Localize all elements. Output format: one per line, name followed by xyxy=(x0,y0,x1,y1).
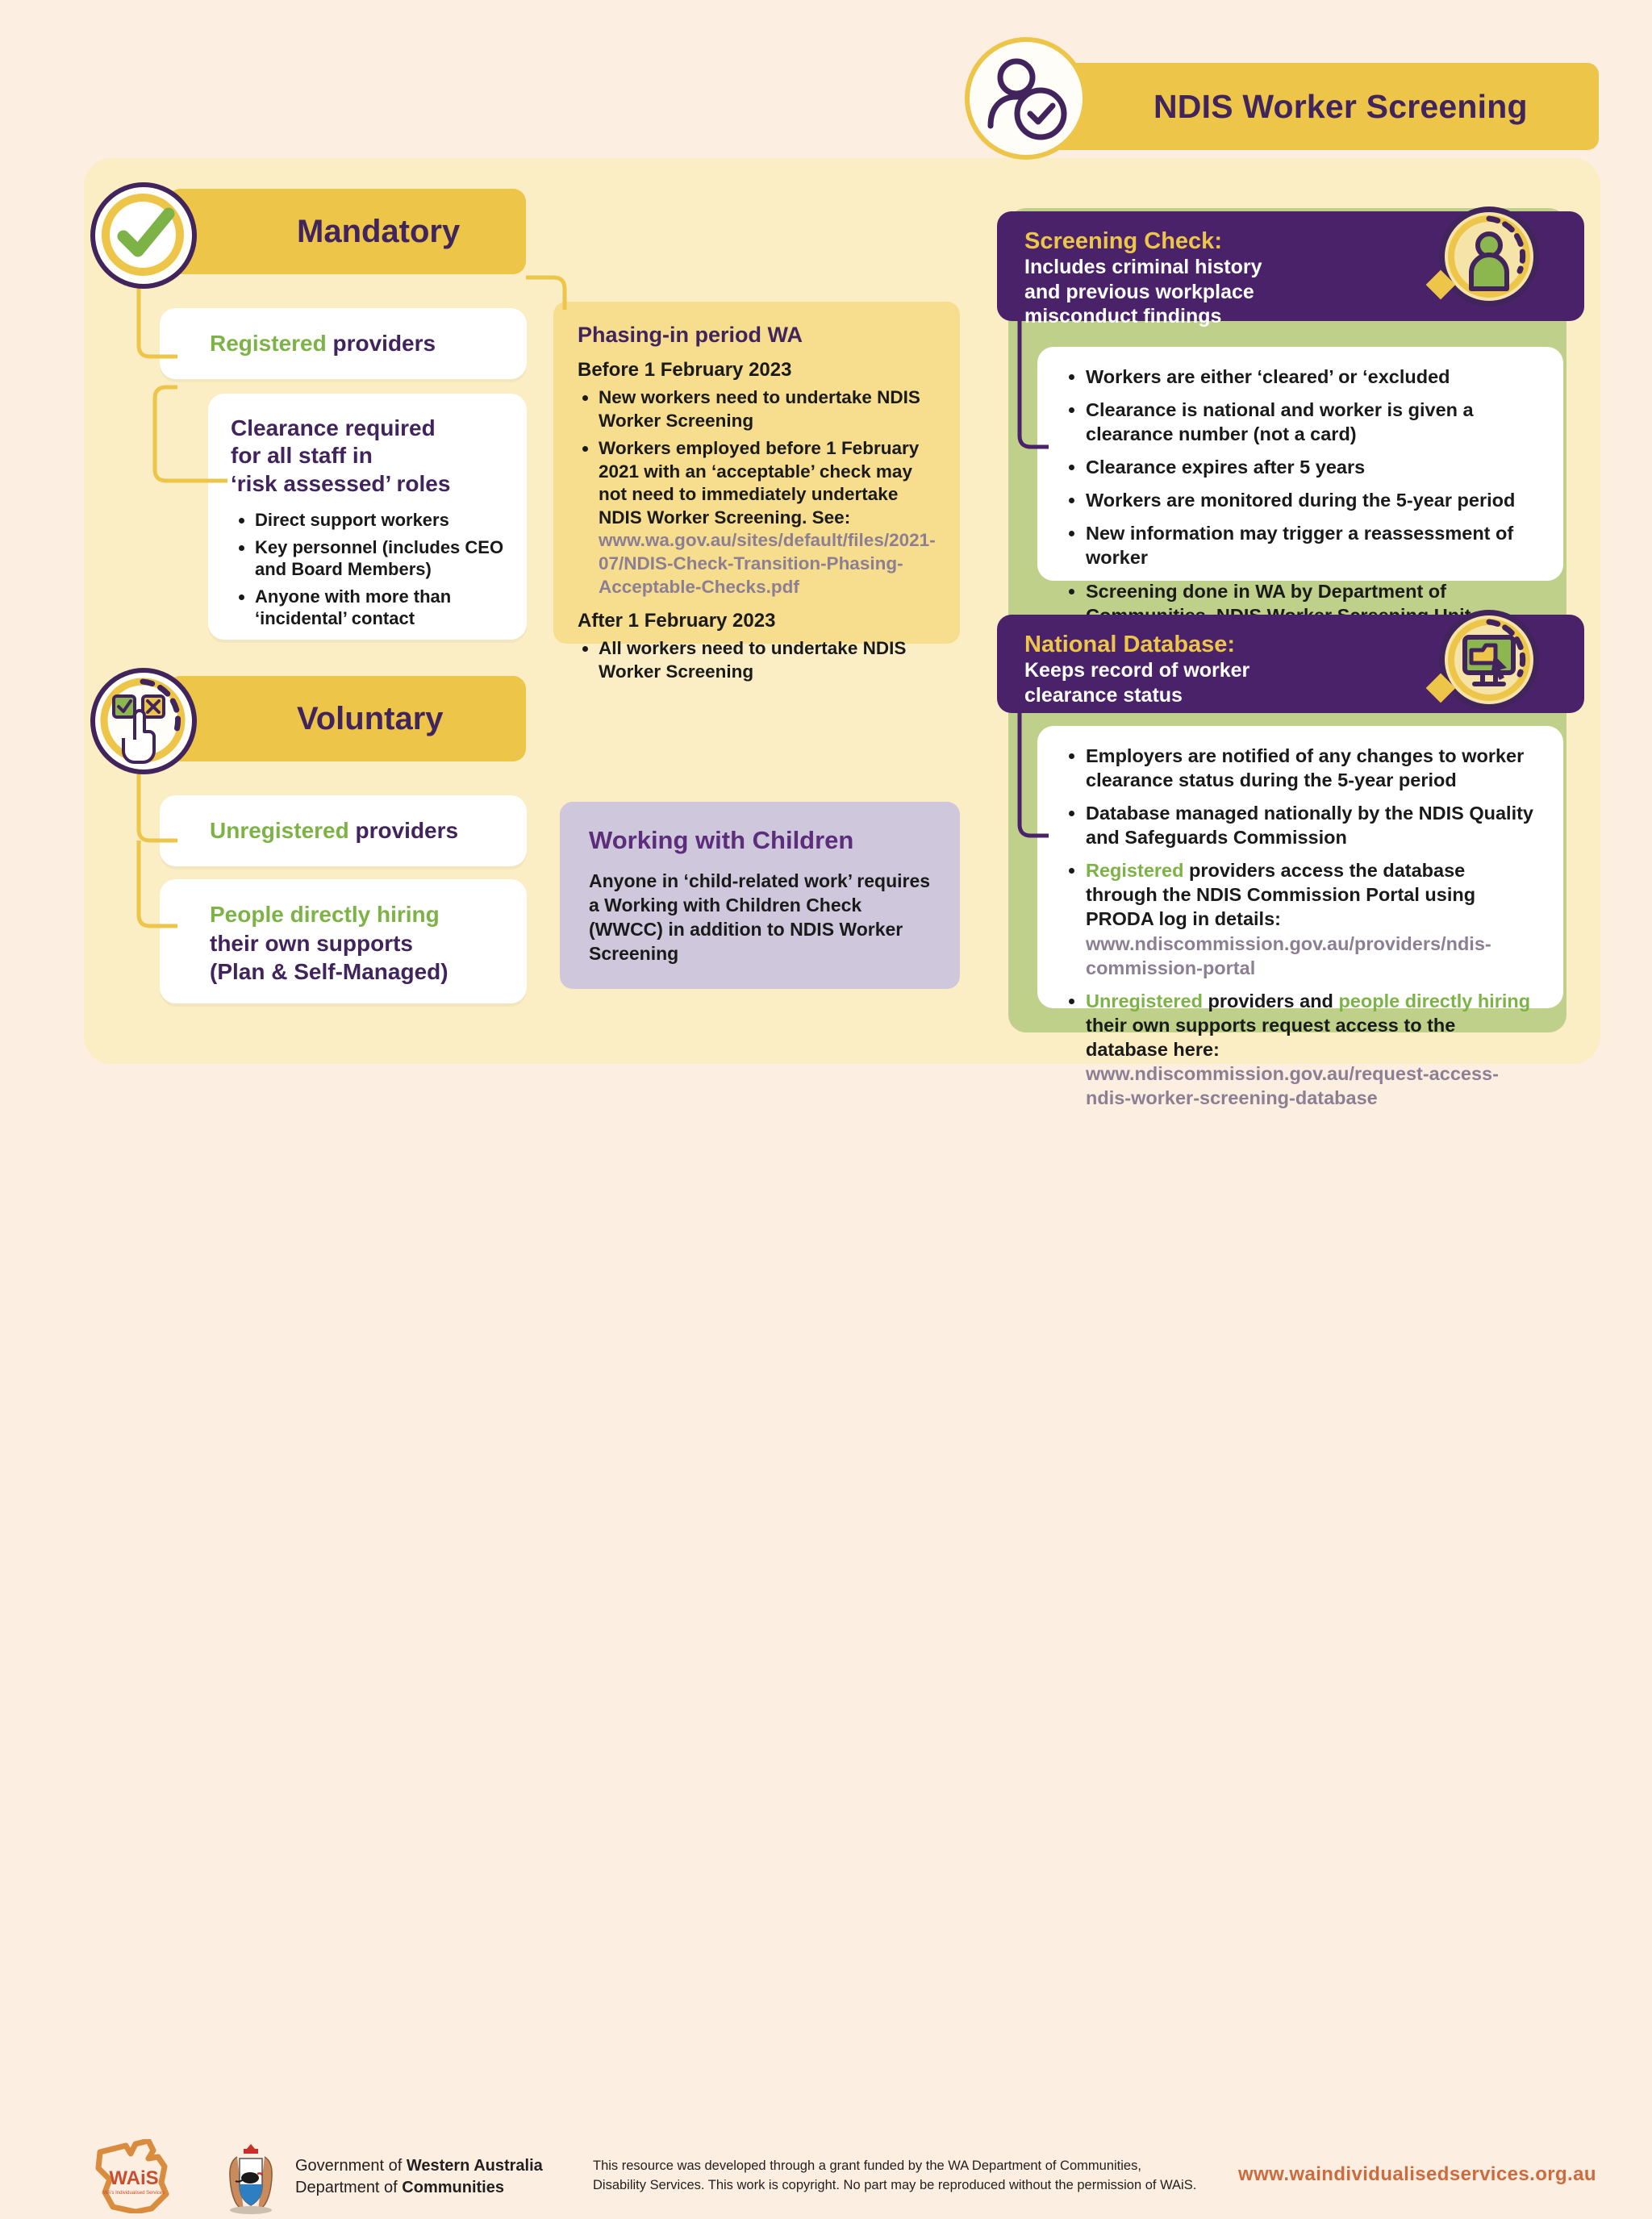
registered-highlight-db: Registered xyxy=(1086,860,1183,881)
list-item: Database managed nationally by the NDIS … xyxy=(1086,801,1539,849)
wwc-title: Working with Children xyxy=(589,826,936,855)
gov-line-2: Department of Communities xyxy=(295,2177,543,2199)
gov-line-1: Government of Western Australia xyxy=(295,2155,543,2177)
copyright-line-2: Disability Services. This work is copyri… xyxy=(593,2176,1196,2196)
phasing-bullet2-url[interactable]: www.wa.gov.au/sites/default/files/2021-0… xyxy=(599,530,936,596)
list-item: New workers need to undertake NDIS Worke… xyxy=(599,386,937,432)
mandatory-connectors xyxy=(81,242,581,694)
phasing-after-label: After 1 February 2023 xyxy=(578,610,937,632)
copyright-text: This resource was developed through a gr… xyxy=(593,2157,1196,2196)
page-title: NDIS Worker Screening xyxy=(1153,88,1528,126)
list-item: All workers need to undertake NDIS Worke… xyxy=(599,637,937,683)
wais-website-url[interactable]: www.waindividualisedservices.org.au xyxy=(1238,2163,1596,2186)
unregistered-highlight-db: Unregistered xyxy=(1086,991,1203,1011)
list-item: Clearance is national and worker is give… xyxy=(1086,398,1539,446)
phasing-bullet2-text: Workers employed before 1 February 2021 … xyxy=(599,438,919,528)
bullet4-text: their own supports request access to the… xyxy=(1086,1015,1455,1060)
phasing-before-list: New workers need to undertake NDIS Worke… xyxy=(599,386,937,599)
phasing-title: Phasing-in period WA xyxy=(578,323,937,348)
people-hiring-highlight-db: people directly hiring xyxy=(1338,991,1530,1011)
wa-government-crest-icon xyxy=(219,2138,282,2215)
national-database-bullets: Employers are notified of any changes to… xyxy=(1037,726,1563,1008)
database-bullet-list: Employers are notified of any changes to… xyxy=(1086,744,1539,1110)
checkbox-hand-pointer-icon xyxy=(90,668,197,774)
database-connector xyxy=(1008,707,1073,860)
list-item: Registered providers access the database… xyxy=(1086,858,1539,979)
list-item: Workers are monitored during the 5-year … xyxy=(1086,488,1539,512)
screening-check-bullets: Workers are either ‘cleared’ or ‘exclude… xyxy=(1037,347,1563,581)
phasing-in-period-box: Phasing-in period WA Before 1 February 2… xyxy=(553,302,960,644)
person-in-magnifier-icon xyxy=(1439,206,1539,307)
government-text: Government of Western Australia Departme… xyxy=(295,2155,543,2199)
list-item: Clearance expires after 5 years xyxy=(1086,455,1539,479)
list-item: Workers are either ‘cleared’ or ‘exclude… xyxy=(1086,365,1539,389)
bullet4-mid: providers and xyxy=(1203,991,1338,1011)
svg-text:WA's Individualised Services: WA's Individualised Services xyxy=(103,2191,165,2196)
working-with-children-box: Working with Children Anyone in ‘child-r… xyxy=(560,802,960,989)
wwc-body: Anyone in ‘child-related work’ requires … xyxy=(589,870,936,966)
header-bar: NDIS Worker Screening xyxy=(1018,63,1599,150)
computer-folder-cursor-icon xyxy=(1439,610,1539,710)
wais-logo: WAiS WA's Individualised Services xyxy=(89,2139,179,2212)
person-check-icon xyxy=(965,37,1087,160)
list-item: Employers are notified of any changes to… xyxy=(1086,744,1539,792)
commission-portal-url[interactable]: www.ndiscommission.gov.au/providers/ndis… xyxy=(1086,933,1491,978)
copyright-line-1: This resource was developed through a gr… xyxy=(593,2157,1196,2176)
green-tick-circle-icon xyxy=(90,182,197,289)
svg-text:WAiS: WAiS xyxy=(109,2167,158,2189)
footer: WAiS WA's Individualised Services Govern… xyxy=(0,1066,1652,1168)
phasing-before-label: Before 1 February 2023 xyxy=(578,359,937,382)
screening-connector xyxy=(1008,315,1073,476)
list-item: Workers employed before 1 February 2021 … xyxy=(599,437,937,599)
list-item: New information may trigger a reassessme… xyxy=(1086,521,1539,569)
phasing-after-list: All workers need to undertake NDIS Worke… xyxy=(599,637,937,683)
